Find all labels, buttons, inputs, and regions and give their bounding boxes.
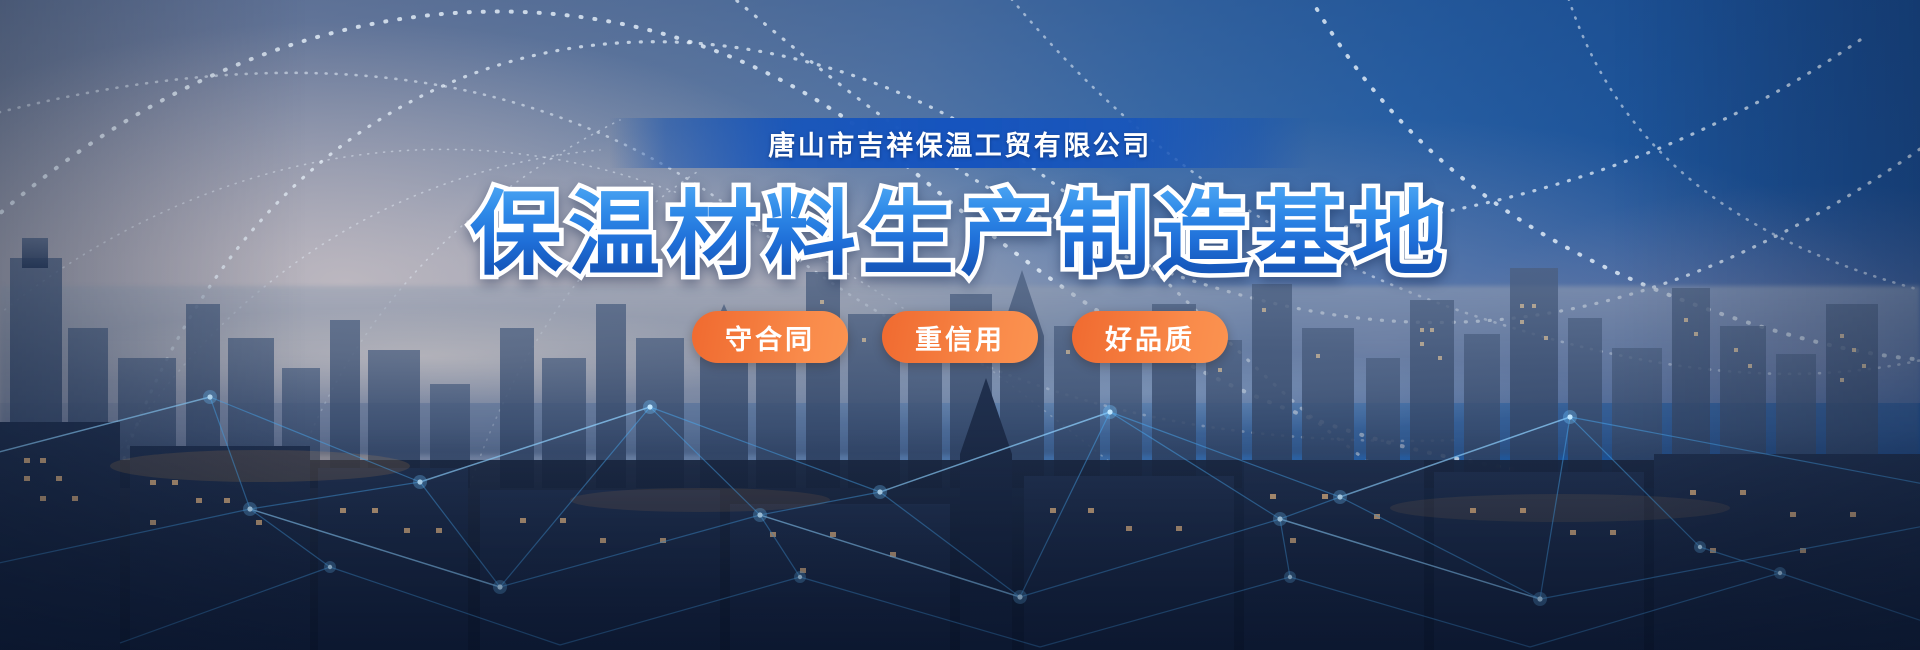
company-name: 唐山市吉祥保温工贸有限公司 [768,124,1152,163]
pill-hao-pin-zhi[interactable]: 好品质 [1072,311,1228,363]
company-name-bar: 唐山市吉祥保温工贸有限公司 [610,118,1310,168]
pill-label: 好品质 [1105,318,1195,357]
banner-content: 唐山市吉祥保温工贸有限公司 保温材料生产制造基地 保温材料生产制造基地 守合同 … [0,0,1920,650]
feature-pill-group: 守合同 重信用 好品质 [692,311,1228,363]
hero-banner: 唐山市吉祥保温工贸有限公司 保温材料生产制造基地 保温材料生产制造基地 守合同 … [0,0,1920,650]
pill-shou-he-tong[interactable]: 守合同 [692,311,848,363]
headline-wrapper: 保温材料生产制造基地 保温材料生产制造基地 [470,186,1450,285]
pill-label: 重信用 [915,318,1005,357]
pill-label: 守合同 [725,318,815,357]
pill-zhong-xin-yong[interactable]: 重信用 [882,311,1038,363]
headline-text: 保温材料生产制造基地 [470,186,1450,285]
